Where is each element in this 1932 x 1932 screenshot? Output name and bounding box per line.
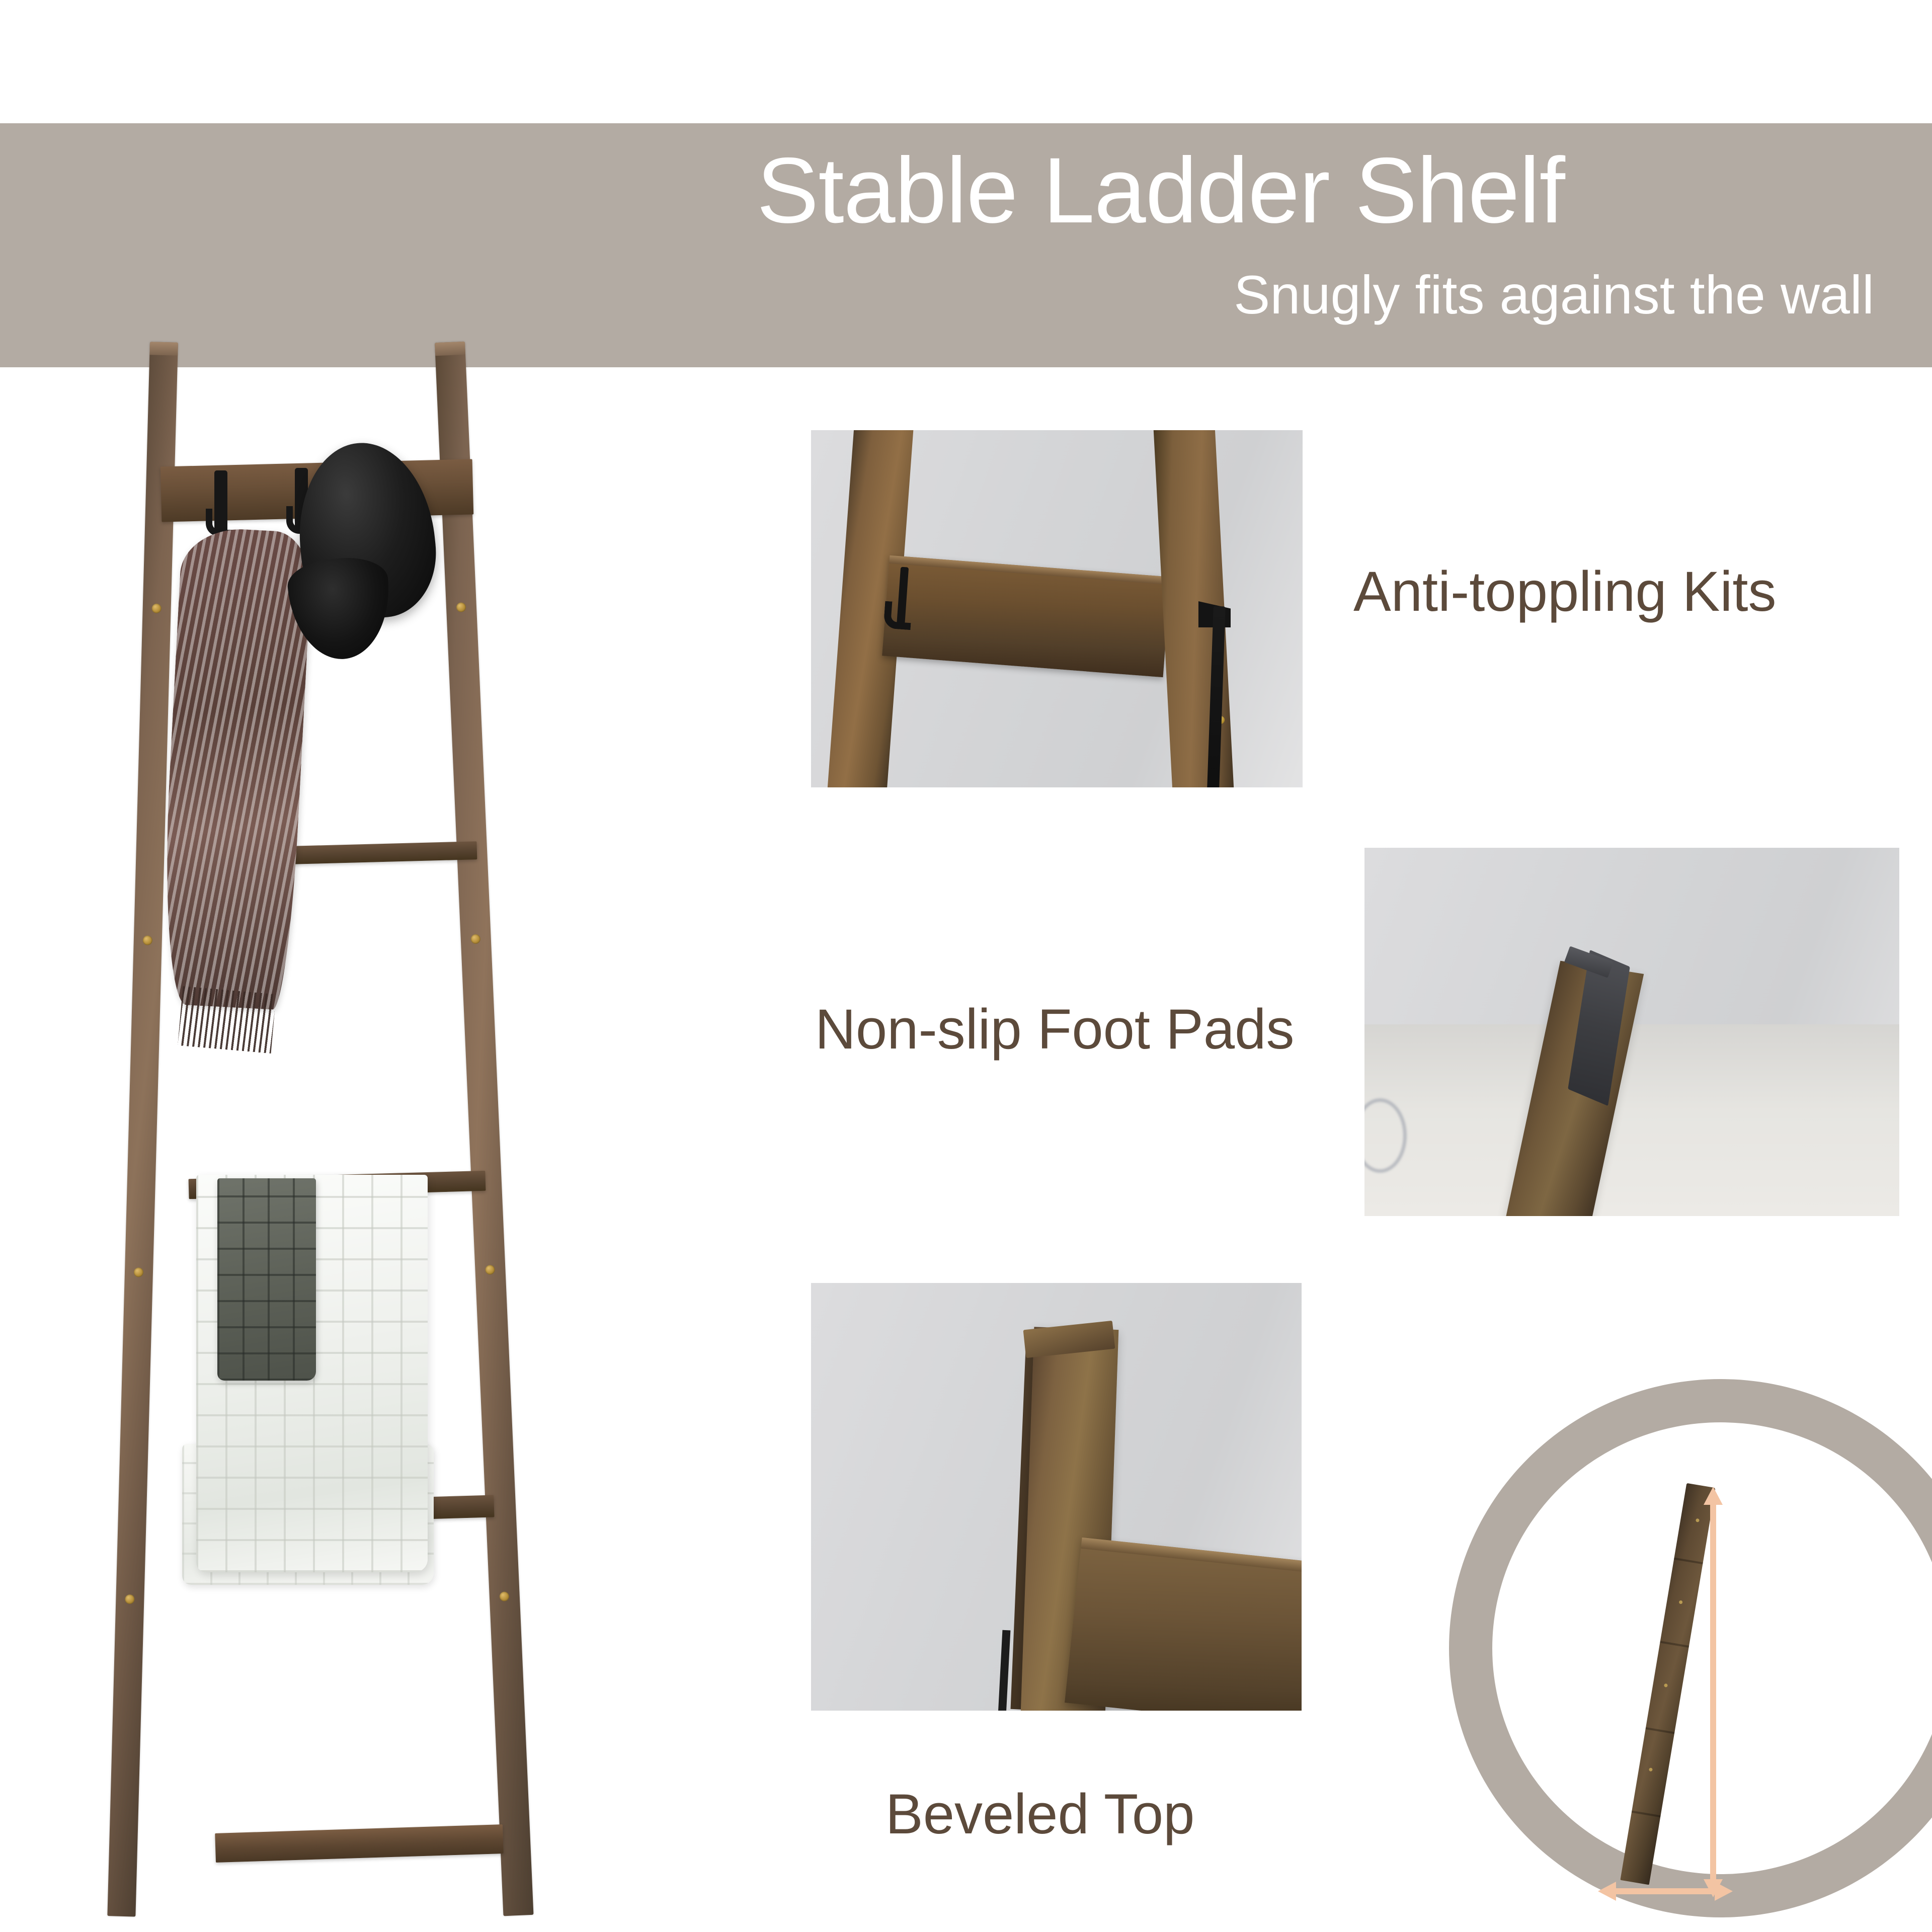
ladder-rung: [882, 555, 1171, 677]
ladder-shelf-product-photo: [86, 342, 755, 1932]
screw-icon: [1696, 1518, 1700, 1522]
screw-icon: [143, 935, 153, 945]
feature-photo-anti-toppling: [811, 430, 1303, 787]
height-arrow-icon: [1710, 1504, 1716, 1880]
gray-grid-towel: [217, 1178, 316, 1381]
ladder-rail-left: [107, 342, 178, 1916]
coat-hook-icon: [214, 470, 227, 534]
screw-icon: [499, 1591, 509, 1601]
feature-photo-non-slip-foot-pads: [1364, 848, 1899, 1216]
scarf-fringe: [178, 986, 276, 1054]
depth-arrow-icon: [1615, 1888, 1716, 1894]
product-infographic: Stable Ladder Shelf Snugly fits against …: [0, 0, 1932, 1932]
screw-icon: [134, 1267, 144, 1277]
rail-cap-right: [435, 342, 465, 356]
feature-label-anti-toppling: Anti-toppling Kits: [1353, 563, 1776, 620]
photo-floor: [1364, 1024, 1899, 1216]
screw-icon: [151, 604, 162, 614]
screw-icon: [1649, 1767, 1653, 1772]
ladder-joint: [1674, 1558, 1703, 1565]
badge-ring: [1449, 1379, 1932, 1917]
screw-icon: [1679, 1600, 1683, 1604]
screw-icon: [1664, 1683, 1668, 1687]
ladder-joint: [1646, 1727, 1675, 1734]
ladder-rung: [215, 1824, 504, 1863]
rail-cap-left: [149, 342, 178, 356]
screw-icon: [485, 1265, 495, 1275]
page-subtitle: Snugly fits against the wall: [0, 265, 1874, 325]
ladder-joint: [1632, 1811, 1661, 1818]
ladder-joint: [1660, 1641, 1689, 1648]
page-title: Stable Ladder Shelf: [0, 141, 1565, 240]
screw-icon: [456, 602, 466, 612]
screw-icon: [470, 934, 480, 944]
screw-icon: [125, 1594, 135, 1604]
ladder-rail-right: [435, 342, 533, 1916]
header-banner: Stable Ladder Shelf Snugly fits against …: [0, 123, 1932, 367]
dimension-badge: [1449, 1376, 1932, 1932]
feature-label-beveled-top: Beveled Top: [886, 1786, 1194, 1842]
ladder-shelf-board: [1065, 1538, 1302, 1711]
feature-label-non-slip-foot-pads: Non-slip Foot Pads: [815, 1001, 1294, 1058]
feature-photo-beveled-top: [811, 1283, 1302, 1711]
